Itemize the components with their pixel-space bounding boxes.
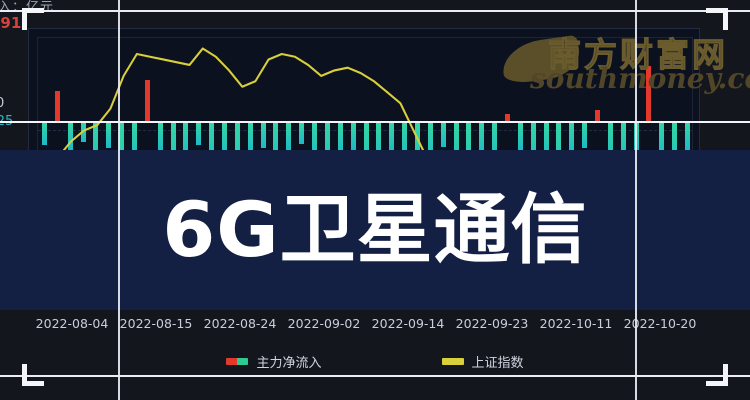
x-axis-label: 2022-08-24 [204, 316, 277, 331]
crosshair-vertical-right[interactable] [635, 0, 637, 400]
chart-legend: 主力净流入 上证指数 [0, 348, 750, 374]
x-axis-label: 2022-10-11 [540, 316, 613, 331]
legend-item-shanghai-index[interactable]: 上证指数 [442, 352, 524, 371]
legend-label: 主力净流入 [256, 352, 321, 371]
legend-item-main-net-inflow[interactable]: 主力净流入 [226, 352, 321, 371]
crosshair-vertical-left[interactable] [118, 0, 120, 400]
x-axis-label: 2022-09-02 [288, 316, 361, 331]
y-axis-label-0: 0 [0, 96, 4, 111]
x-axis-label: 2022-09-14 [372, 316, 445, 331]
x-axis: 2022-08-042022-08-152022-08-242022-09-02… [0, 316, 750, 336]
legend-swatch-icon [442, 358, 464, 365]
x-axis-label: 2022-08-15 [120, 316, 193, 331]
title-overlay-text: 6G卫星通信 [162, 192, 587, 268]
metric-value: 391 [0, 14, 21, 32]
screenshot-root: 流入：亿元 391 0 -25 -644 -62 6G卫星通信 南方财富网 so… [0, 0, 750, 400]
x-axis-label: 2022-09-23 [456, 316, 529, 331]
title-overlay: 6G卫星通信 [0, 150, 750, 310]
zero-baseline [0, 121, 750, 123]
x-axis-label: 2022-08-04 [36, 316, 109, 331]
selection-rail-top [0, 10, 750, 12]
legend-label: 上证指数 [472, 352, 524, 371]
selection-rail-bottom [0, 375, 750, 377]
legend-swatch-icon [226, 358, 248, 365]
